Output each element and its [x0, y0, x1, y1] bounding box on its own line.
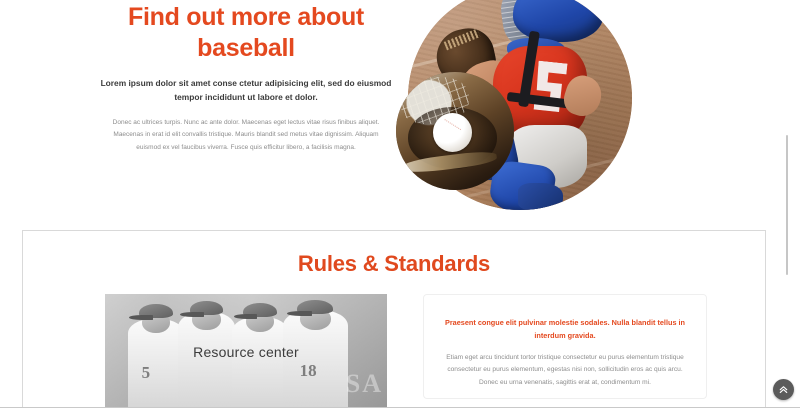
double-chevron-up-icon — [778, 384, 789, 395]
cleat — [518, 183, 563, 210]
hero-lead-paragraph: Lorem ipsum dolor sit amet conse ctetur … — [96, 77, 396, 105]
hero-section: Find out more about baseball Lorem ipsum… — [0, 0, 800, 215]
rules-content-grid: 5 18 SA Resource center Praesent congue … — [105, 294, 705, 408]
scroll-to-top-button[interactable] — [773, 379, 794, 400]
vertical-scrollbar[interactable] — [786, 135, 788, 275]
resource-center-card[interactable]: 5 18 SA Resource center — [105, 294, 387, 408]
panel-lead-text: Praesent congue elit pulvinar molestie s… — [444, 317, 686, 343]
resource-center-label: Resource center — [105, 294, 387, 408]
rules-section-title: Rules & Standards — [23, 251, 765, 277]
panel-body-text: Etiam eget arcu tincidunt tortor tristiq… — [444, 352, 686, 391]
hero-body-paragraph: Donec ac ultrices turpis. Nunc ac ante d… — [96, 117, 396, 155]
hero-text-column: Find out more about baseball Lorem ipsum… — [96, 0, 396, 155]
rules-standards-section: Rules & Standards 5 — [22, 230, 766, 408]
baseball — [433, 113, 472, 152]
catcher-helmet — [513, 0, 603, 42]
page-root: Find out more about baseball Lorem ipsum… — [0, 0, 800, 408]
hero-title: Find out more about baseball — [96, 0, 396, 64]
hero-image-cluster — [396, 0, 800, 216]
hero-ball-in-glove-image — [396, 72, 514, 190]
rules-text-panel: Praesent congue elit pulvinar molestie s… — [423, 294, 707, 399]
